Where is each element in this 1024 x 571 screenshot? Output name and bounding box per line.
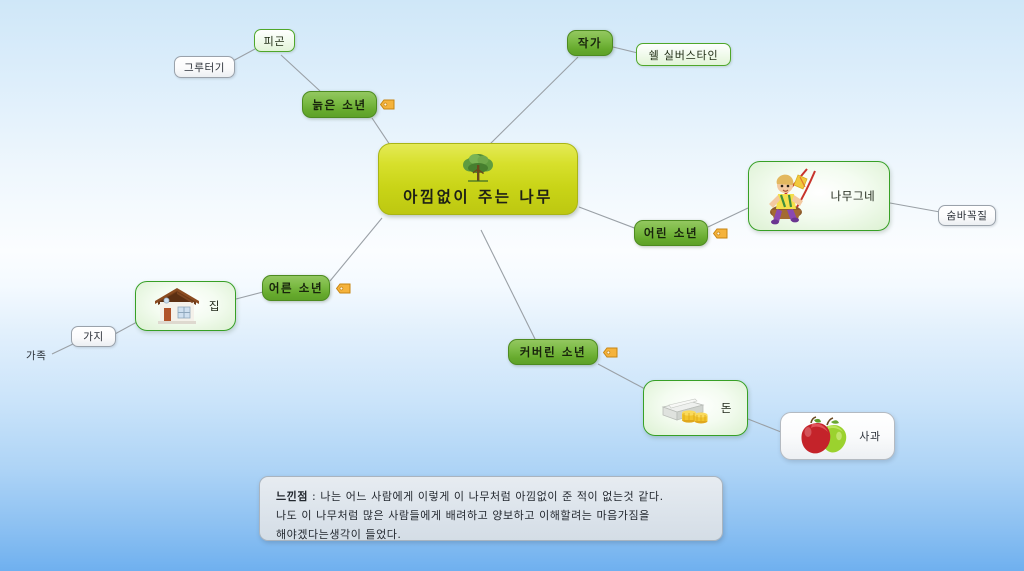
- node-old-boy-label: 늙은 소년: [312, 97, 366, 113]
- root-label: 아낌없이 주는 나무: [403, 185, 553, 207]
- node-money[interactable]: 돈: [643, 380, 748, 436]
- node-grown-boy[interactable]: 커버린 소년: [508, 339, 598, 365]
- tag-icon-grown-boy[interactable]: [603, 347, 618, 358]
- link-old-boy-tired: [281, 55, 320, 91]
- note-line-3: 해야겠다는생각이 들었다.: [276, 525, 708, 544]
- link-swing-hide: [890, 203, 940, 212]
- mindmap-canvas[interactable]: 아낌없이 주는 나무 늙은 소년 작가 어린 소년 어른 소년 커버린 소년: [0, 0, 1024, 571]
- node-adult-boy[interactable]: 어른 소년: [262, 275, 330, 301]
- node-tired[interactable]: 피곤: [254, 29, 295, 52]
- node-house[interactable]: 집: [135, 281, 236, 331]
- node-hide-and-seek[interactable]: 숨바꼭질: [938, 205, 996, 226]
- tag-icon-adult-boy[interactable]: [336, 283, 351, 294]
- link-young-boy-swing: [708, 208, 748, 227]
- tree-icon: [461, 152, 495, 182]
- tag-icon-old-boy[interactable]: [380, 99, 395, 110]
- swing-icon: [763, 167, 825, 225]
- node-grown-boy-label: 커버린 소년: [520, 344, 587, 360]
- node-money-label: 돈: [721, 400, 732, 416]
- note-box[interactable]: 느낀점 : 나는 어느 사람에게 이렇게 이 나무처럼 아낌없이 준 적이 없는…: [259, 476, 723, 541]
- note-separator: :: [308, 490, 320, 503]
- house-icon: [151, 285, 203, 327]
- node-branch[interactable]: 가지: [71, 326, 116, 347]
- root-node[interactable]: 아낌없이 주는 나무: [378, 143, 578, 215]
- node-stump-label: 그루터기: [184, 60, 225, 75]
- note-line-1-rest: 나는 어느 사람에게 이렇게 이 나무처럼 아낌없이 준 적이 없는것 같다.: [320, 490, 663, 503]
- node-tree-swing-label: 나무그네: [831, 188, 876, 204]
- link-root-adult-boy: [330, 218, 382, 281]
- note-line-2: 나도 이 나무처럼 많은 사람들에게 배려하고 양보하고 이해할려는 마음가짐을: [276, 506, 708, 525]
- node-family-label[interactable]: 가족: [26, 348, 47, 363]
- node-stump[interactable]: 그루터기: [174, 56, 235, 78]
- note-line-1: 느낀점 : 나는 어느 사람에게 이렇게 이 나무처럼 아낌없이 준 적이 없는…: [276, 487, 708, 506]
- link-root-young-boy: [579, 207, 637, 229]
- node-apple-label: 사과: [859, 428, 880, 444]
- money-icon: [659, 391, 715, 425]
- node-author-label: 작가: [578, 35, 602, 51]
- node-apple[interactable]: 사과: [780, 412, 895, 460]
- node-shel-silverstein[interactable]: 쉘 실버스타인: [636, 43, 731, 66]
- node-tired-label: 피곤: [264, 33, 286, 49]
- node-tree-swing[interactable]: 나무그네: [748, 161, 890, 231]
- link-house-branch: [113, 322, 137, 335]
- link-root-author: [487, 57, 578, 147]
- node-young-boy-label: 어린 소년: [644, 225, 698, 241]
- node-branch-label: 가지: [83, 329, 104, 344]
- node-old-boy[interactable]: 늙은 소년: [302, 91, 377, 118]
- link-grown-boy-money: [598, 364, 645, 389]
- link-money-apple: [748, 419, 781, 432]
- tag-icon-young-boy[interactable]: [713, 228, 728, 239]
- node-house-label: 집: [209, 298, 220, 314]
- note-prefix: 느낀점: [276, 490, 308, 503]
- node-adult-boy-label: 어른 소년: [269, 280, 323, 296]
- node-young-boy[interactable]: 어린 소년: [634, 220, 708, 246]
- link-adult-boy-house: [236, 292, 263, 299]
- node-hide-and-seek-label: 숨바꼭질: [946, 208, 987, 223]
- apples-icon: [794, 416, 852, 456]
- link-author-shel: [613, 47, 638, 53]
- link-branch-family: [52, 344, 73, 354]
- link-root-grown-boy: [481, 230, 535, 339]
- node-shel-silverstein-label: 쉘 실버스타인: [649, 47, 719, 63]
- node-author[interactable]: 작가: [567, 30, 613, 56]
